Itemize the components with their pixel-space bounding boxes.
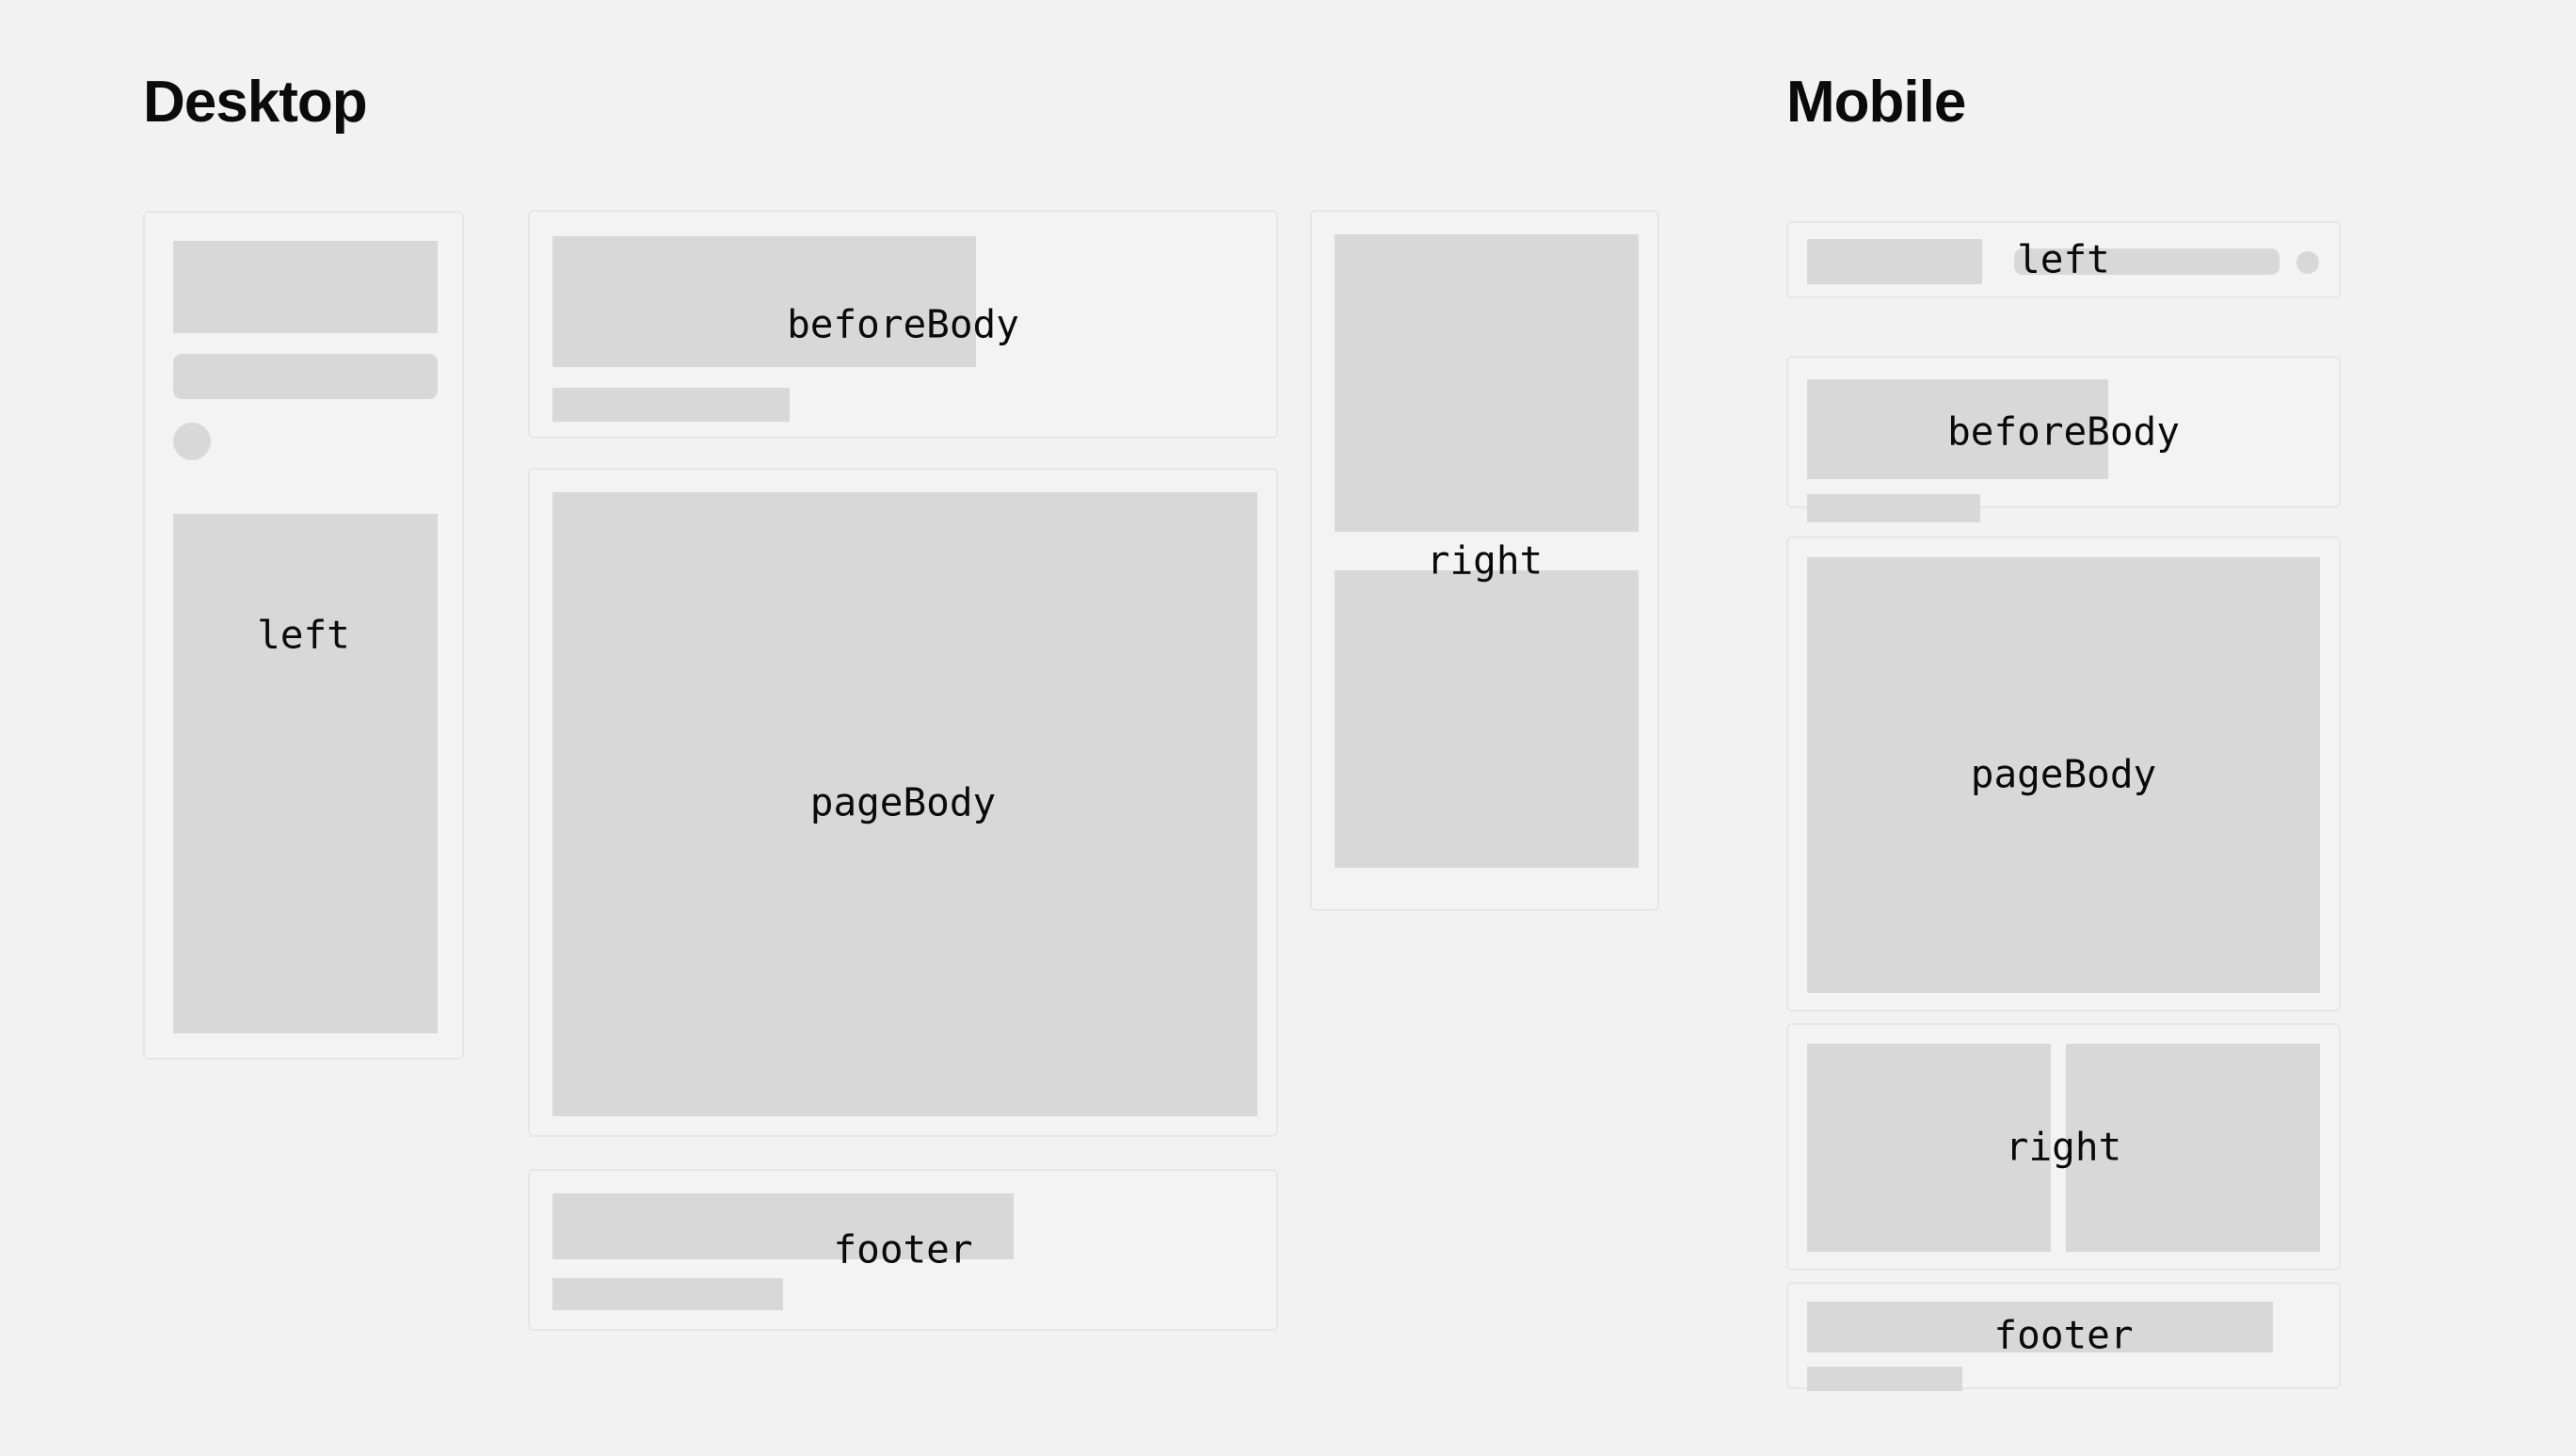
region-label-pagebody: pageBody	[1971, 755, 2156, 793]
region-label-pagebody: pageBody	[810, 783, 996, 822]
skeleton-avatar-circle	[173, 423, 211, 460]
desktop-region-left[interactable]: left	[143, 211, 464, 1060]
skeleton-block	[1335, 234, 1639, 532]
region-label-left: left	[2017, 241, 2110, 280]
skeleton-bar	[552, 388, 790, 422]
skeleton-block	[1335, 570, 1639, 868]
mobile-region-footer[interactable]: footer	[1786, 1282, 2341, 1389]
skeleton-bar	[552, 1278, 783, 1310]
region-label-right: right	[1427, 541, 1543, 580]
mobile-region-beforebody[interactable]: beforeBody	[1786, 356, 2341, 508]
region-label-right: right	[2006, 1128, 2121, 1166]
region-label-beforebody: beforeBody	[787, 305, 1019, 344]
region-label-footer: footer	[1993, 1317, 2133, 1355]
skeleton-block	[1807, 239, 1982, 284]
skeleton-bar	[173, 354, 438, 399]
desktop-region-beforebody[interactable]: beforeBody	[528, 210, 1278, 439]
desktop-section-title: Desktop	[143, 73, 367, 132]
desktop-region-pagebody[interactable]: pageBody	[528, 468, 1278, 1137]
region-label-footer: footer	[833, 1231, 972, 1270]
skeleton-block	[173, 241, 438, 333]
skeleton-block	[173, 514, 438, 1033]
mobile-region-pagebody[interactable]: pageBody	[1786, 536, 2341, 1012]
skeleton-avatar-circle	[2296, 251, 2319, 274]
desktop-region-footer[interactable]: footer	[528, 1169, 1278, 1331]
region-label-beforebody: beforeBody	[1947, 413, 2180, 452]
mobile-region-right[interactable]: right	[1786, 1023, 2341, 1271]
desktop-region-right[interactable]: right	[1310, 210, 1659, 911]
mobile-section-title: Mobile	[1786, 73, 1965, 132]
skeleton-bar	[1807, 1367, 1962, 1391]
mobile-region-left[interactable]: left	[1786, 221, 2341, 298]
region-label-left: left	[257, 616, 350, 655]
skeleton-bar	[1807, 494, 1980, 522]
